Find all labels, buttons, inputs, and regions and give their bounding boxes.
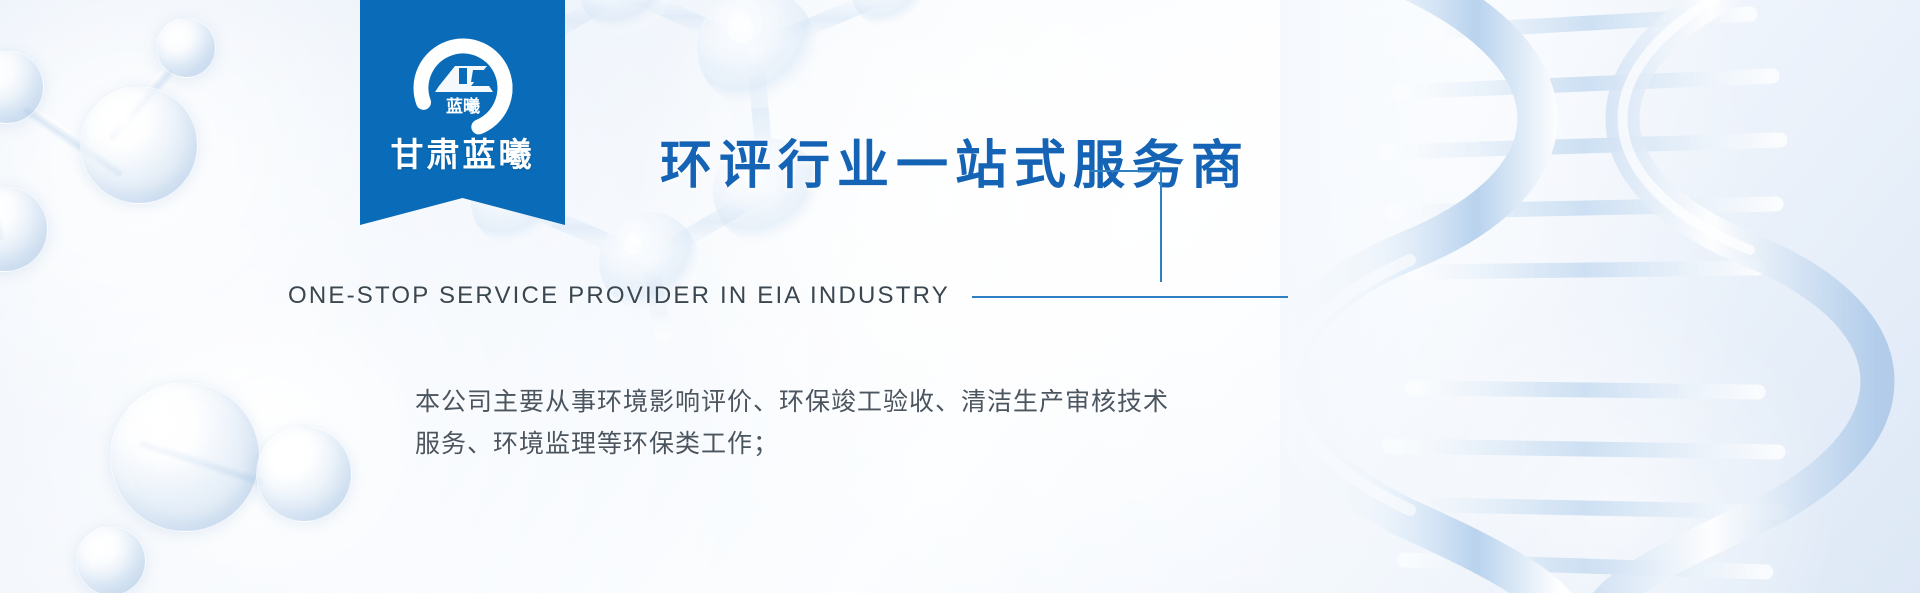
ribbon-company-name: 甘肃蓝曦 xyxy=(360,128,565,176)
hero-banner: 蓝曦 甘肃蓝曦 环评行业一站式服务商 ONE-STOP SERVICE PROV… xyxy=(0,0,1920,593)
lanxi-circle-logo-icon: 蓝曦 xyxy=(409,34,517,142)
decorative-bracket xyxy=(1090,170,1162,282)
page-subtitle: ONE-STOP SERVICE PROVIDER IN EIA INDUSTR… xyxy=(288,282,950,310)
subtitle-row: ONE-STOP SERVICE PROVIDER IN EIA INDUSTR… xyxy=(288,278,1288,314)
description-line-1: 本公司主要从事环境影响评价、环保竣工验收、清洁生产审核技术 xyxy=(415,382,1169,424)
description-paragraph: 本公司主要从事环境影响评价、环保竣工验收、清洁生产审核技术 服务、环境监理等环保… xyxy=(415,382,1169,466)
glass-molecule-cluster-icon xyxy=(70,350,400,593)
logo-ribbon: 蓝曦 甘肃蓝曦 xyxy=(360,0,565,225)
description-line-2: 服务、环境监理等环保类工作； xyxy=(415,424,1169,466)
svg-text:蓝曦: 蓝曦 xyxy=(446,96,480,117)
dna-double-helix-icon xyxy=(1280,0,1920,593)
subtitle-rule xyxy=(972,296,1288,298)
glass-molecule-cluster-icon xyxy=(0,0,300,350)
background-glow xyxy=(1360,300,1880,593)
